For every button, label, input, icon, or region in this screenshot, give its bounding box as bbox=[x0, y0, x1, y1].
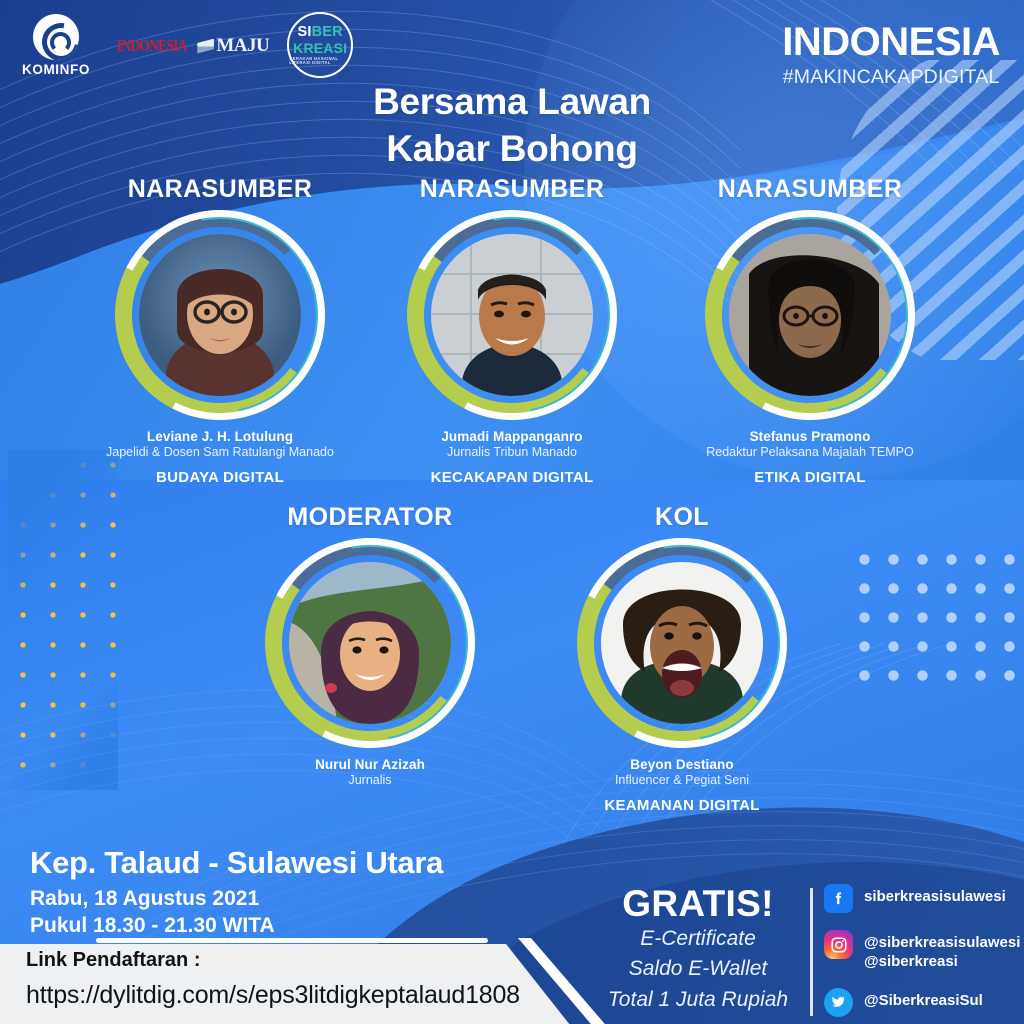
person-topic: BUDAYA DIGITAL bbox=[100, 469, 340, 486]
social-twitter[interactable]: @SiberkreasiSul bbox=[824, 988, 1020, 1017]
avatar bbox=[431, 234, 593, 396]
twitter-icon bbox=[824, 988, 853, 1017]
person-avatar-ring bbox=[577, 538, 787, 748]
avatar bbox=[289, 562, 451, 724]
event-date: Rabu, 18 Agustus 2021 bbox=[30, 887, 443, 911]
person-avatar-ring bbox=[407, 210, 617, 420]
social-links: siberkreasisulawesi @siberkreasisulawesi… bbox=[824, 884, 1020, 1017]
siber-kreasi-line2: KREASI bbox=[293, 41, 347, 55]
title-line-1: Bersama Lawan bbox=[0, 78, 1024, 125]
poster-canvas: KOMINFO INDONESIA MAJU SIBER KREASI GERA… bbox=[0, 0, 1024, 1024]
siber-kreasi-tagline: GERAKAN NASIONAL LITERASI DIGITAL bbox=[289, 57, 351, 65]
person-role-label: NARASUMBER bbox=[392, 175, 632, 204]
person-card-2: NARASUMBER bbox=[392, 175, 632, 486]
facebook-handle: siberkreasisulawesi bbox=[864, 884, 1006, 906]
vertical-divider bbox=[810, 888, 813, 1016]
person-affiliation: Jurnalis bbox=[250, 773, 490, 787]
social-instagram[interactable]: @siberkreasisulawesi @siberkreasi bbox=[824, 930, 1020, 971]
person-affiliation: Influencer & Pegiat Seni bbox=[562, 773, 802, 787]
siber-kreasi-si: SI bbox=[298, 24, 312, 40]
title-line-2: Kabar Bohong bbox=[0, 125, 1024, 172]
flag-icon bbox=[197, 39, 214, 54]
kominfo-label: KOMINFO bbox=[22, 62, 90, 77]
person-topic: KEAMANAN DIGITAL bbox=[562, 797, 802, 814]
person-name: Nurul Nur Azizah bbox=[250, 757, 490, 772]
event-location: Kep. Talaud - Sulawesi Utara bbox=[30, 845, 443, 881]
gratis-item-3: Total 1 Juta Rupiah bbox=[592, 987, 804, 1013]
person-avatar-ring bbox=[705, 210, 915, 420]
event-details: Kep. Talaud - Sulawesi Utara Rabu, 18 Ag… bbox=[30, 845, 443, 938]
person-card-1: NARASUMBER Leviane J. H. Lo bbox=[100, 175, 340, 486]
avatar bbox=[729, 234, 891, 396]
gratis-item-1: E-Certificate bbox=[592, 926, 804, 952]
person-topic: ETIKA DIGITAL bbox=[690, 469, 930, 486]
person-card-4: MODERATOR Nurul Nu bbox=[250, 503, 490, 797]
kominfo-mark-icon bbox=[33, 14, 79, 60]
gratis-block: GRATIS! E-Certificate Saldo E-Wallet Tot… bbox=[592, 885, 804, 1013]
indonesia-maju-red-label: INDONESIA bbox=[117, 36, 187, 56]
siber-kreasi-logo: SIBER KREASI GERAKAN NASIONAL LITERASI D… bbox=[287, 12, 353, 78]
person-card-5: KOL Beyon Destiano Infl bbox=[562, 503, 802, 814]
twitter-handle: @SiberkreasiSul bbox=[864, 988, 983, 1010]
instagram-icon bbox=[824, 930, 853, 959]
kominfo-logo: KOMINFO bbox=[22, 14, 90, 77]
person-name: Jumadi Mappanganro bbox=[392, 429, 632, 444]
instagram-handle: @siberkreasisulawesi @siberkreasi bbox=[864, 930, 1020, 971]
partner-logos: KOMINFO INDONESIA MAJU SIBER KREASI GERA… bbox=[22, 12, 353, 78]
avatar bbox=[601, 562, 763, 724]
person-role-label: MODERATOR bbox=[250, 503, 490, 532]
registration-url[interactable]: https://dylitdig.com/s/eps3litdigkeptala… bbox=[26, 981, 520, 1010]
registration-label: Link Pendaftaran : bbox=[26, 949, 200, 972]
person-avatar-ring bbox=[265, 538, 475, 748]
person-name: Stefanus Pramono bbox=[690, 429, 930, 444]
campaign-title: INDONESIA bbox=[782, 22, 1000, 62]
person-role-label: NARASUMBER bbox=[690, 175, 930, 204]
event-time: Pukul 18.30 - 21.30 WITA bbox=[30, 914, 443, 938]
person-name: Leviane J. H. Lotulung bbox=[100, 429, 340, 444]
gratis-item-2: Saldo E-Wallet bbox=[592, 956, 804, 982]
avatar bbox=[139, 234, 301, 396]
person-role-label: KOL bbox=[562, 503, 802, 532]
person-affiliation: Redaktur Pelaksana Majalah TEMPO bbox=[690, 445, 930, 459]
indonesia-maju-white-label: MAJU bbox=[216, 35, 269, 57]
person-avatar-ring bbox=[115, 210, 325, 420]
divider-rule bbox=[96, 938, 488, 943]
gratis-title: GRATIS! bbox=[592, 885, 804, 922]
siber-kreasi-ber: BER bbox=[312, 24, 343, 40]
indonesia-maju-logo: INDONESIA MAJU bbox=[108, 35, 269, 57]
page-title: Bersama Lawan Kabar Bohong bbox=[0, 78, 1024, 173]
person-topic: KECAKAPAN DIGITAL bbox=[392, 469, 632, 486]
person-affiliation: Japelidi & Dosen Sam Ratulangi Manado bbox=[100, 445, 340, 459]
social-facebook[interactable]: siberkreasisulawesi bbox=[824, 884, 1020, 913]
facebook-icon bbox=[824, 884, 853, 913]
person-card-3: NARASUMBER Stefanus Pramono bbox=[690, 175, 930, 486]
person-affiliation: Jurnalis Tribun Manado bbox=[392, 445, 632, 459]
person-role-label: NARASUMBER bbox=[100, 175, 340, 204]
person-name: Beyon Destiano bbox=[562, 757, 802, 772]
siber-kreasi-line1: SIBER bbox=[298, 25, 343, 40]
